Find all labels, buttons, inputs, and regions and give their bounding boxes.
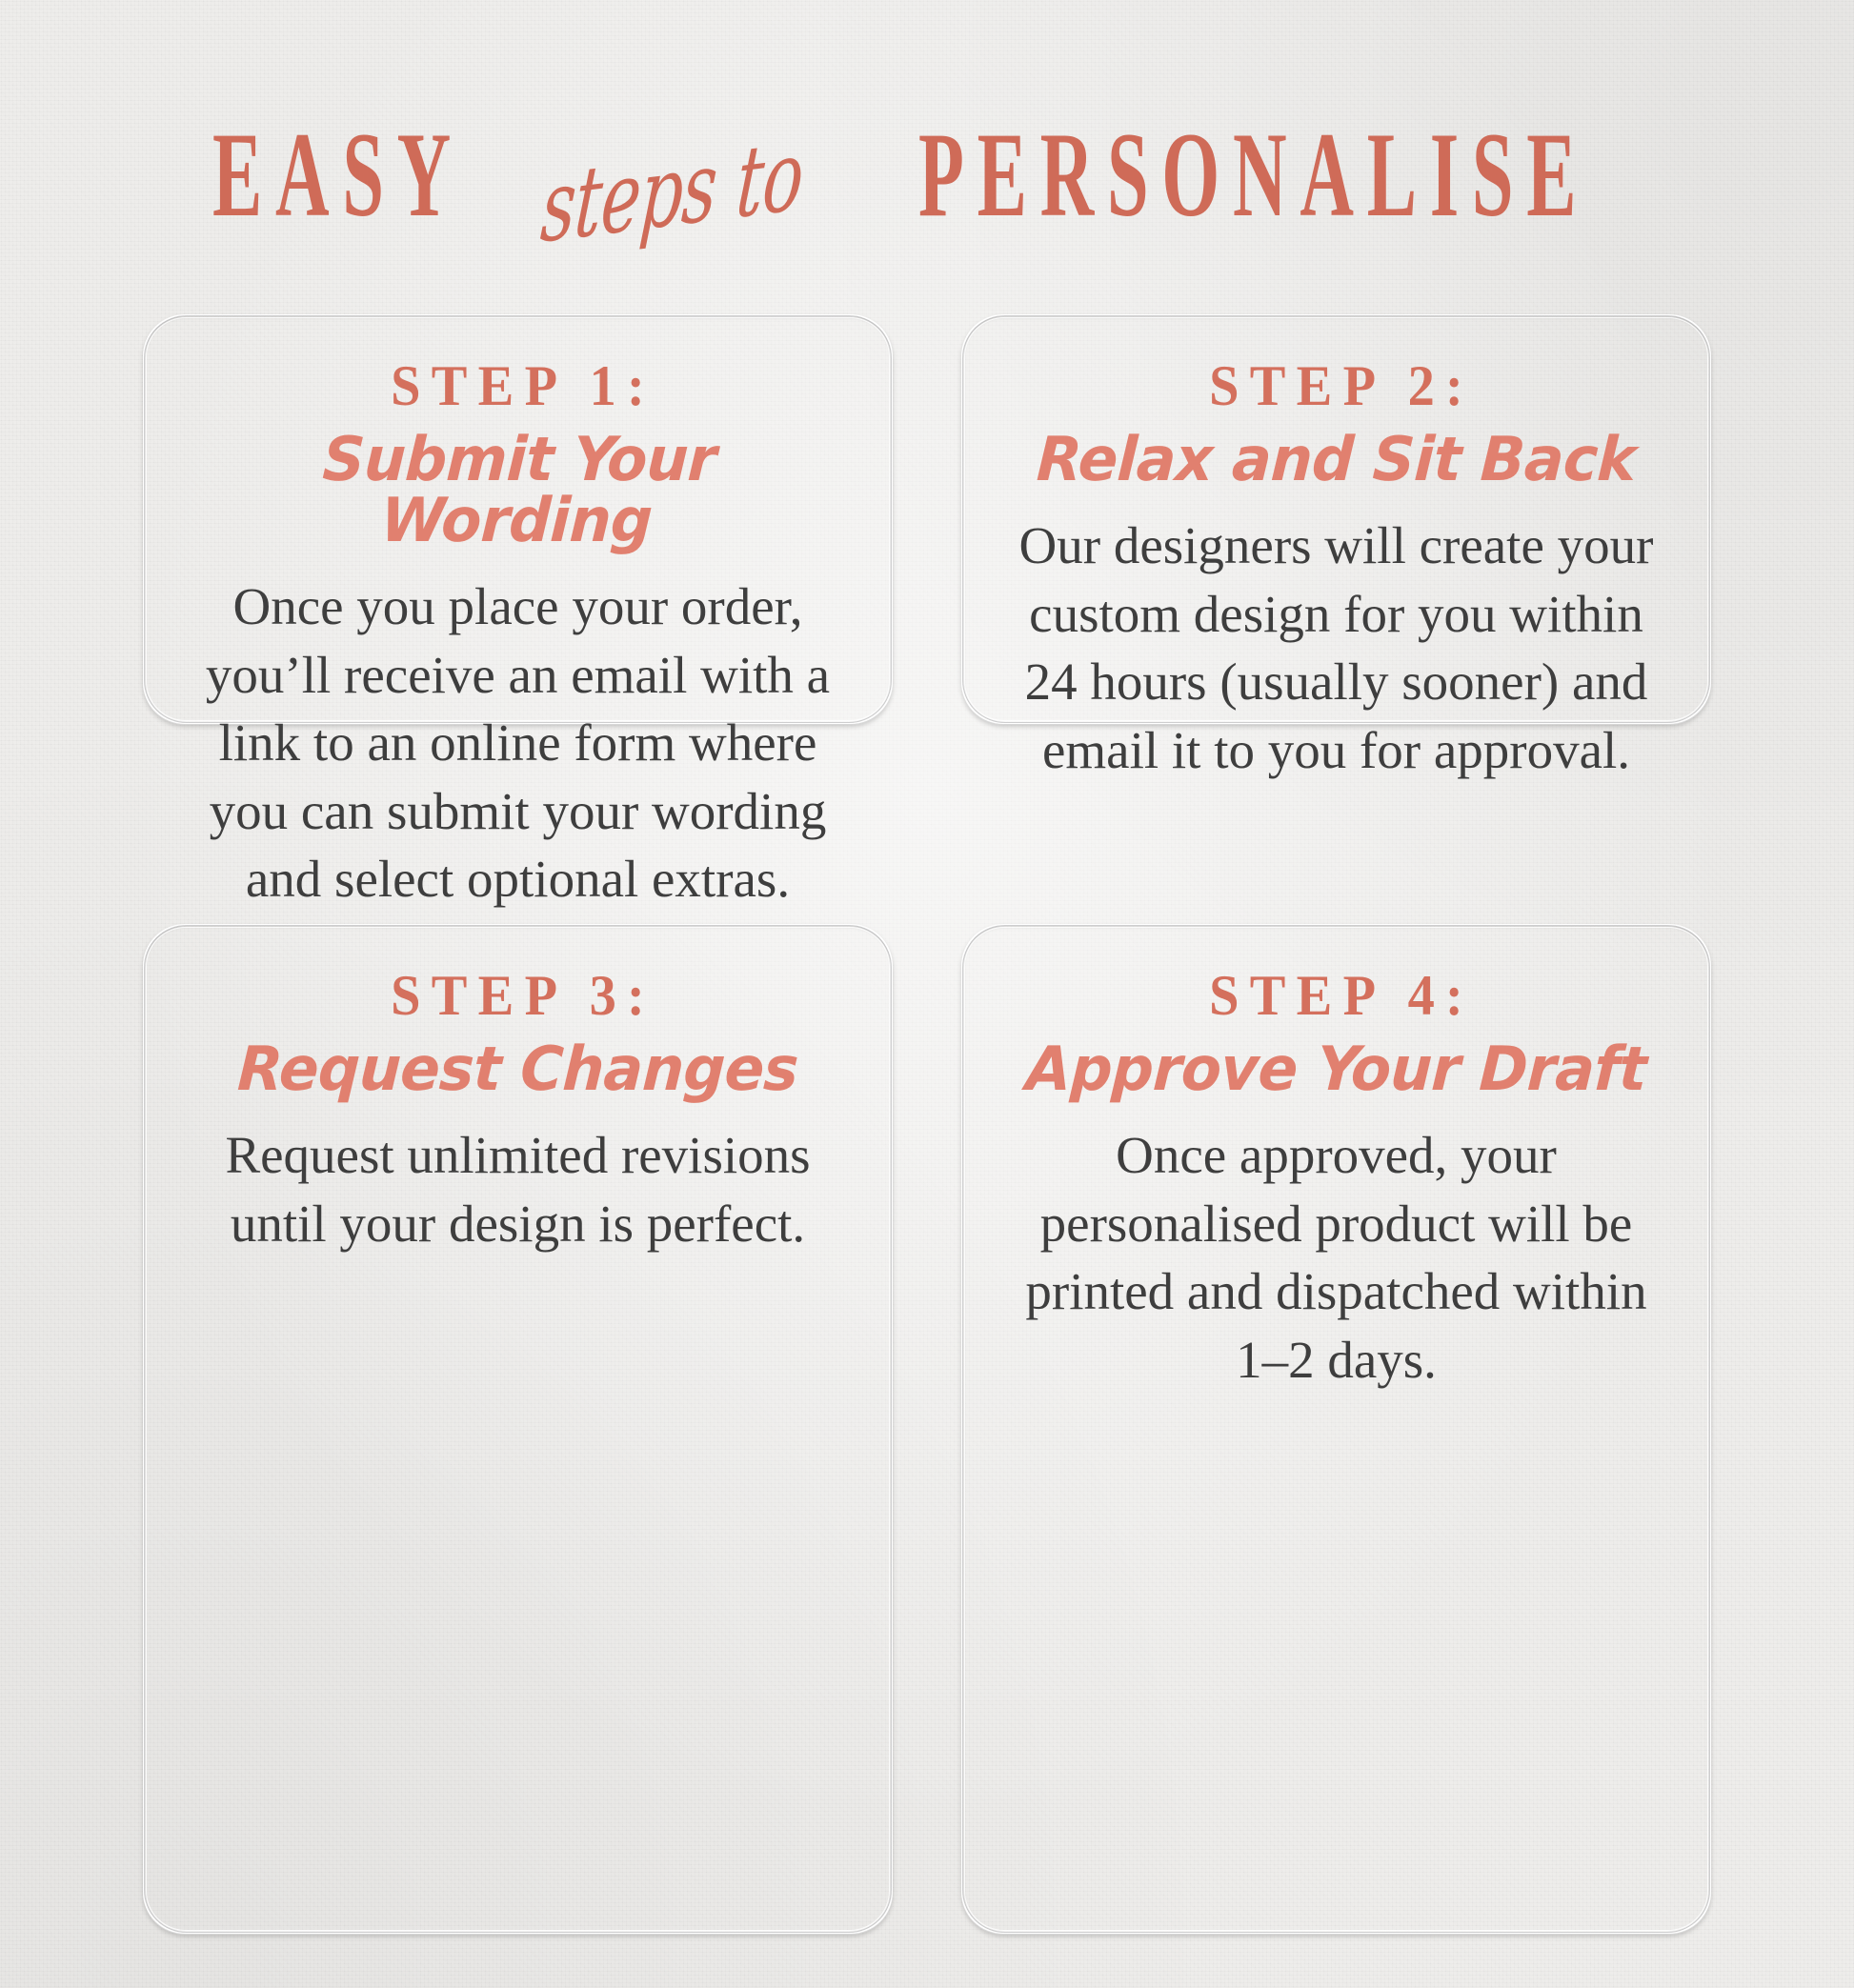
page-title-word-personalise: PERSONALISE	[918, 115, 1589, 236]
step-4-body: Once approved, your personalised product…	[996, 1121, 1677, 1394]
step-1-body: Once you place your order, you’ll receiv…	[177, 572, 858, 914]
step-card-4: STEP 4: Approve Your Draft Once approved…	[961, 924, 1711, 1934]
page-title-script-steps-to: steps to	[538, 127, 807, 257]
step-4-label: STEP 4:	[1016, 966, 1656, 1026]
step-2-body: Our designers will create your custom de…	[996, 512, 1677, 784]
step-1-label: STEP 1:	[197, 356, 837, 416]
step-2-label: STEP 2:	[1016, 356, 1656, 416]
step-3-label: STEP 3:	[197, 966, 837, 1026]
steps-to-personalise-graphic: EASYsteps toPERSONALISE STEP 1: Submit Y…	[0, 0, 1854, 1988]
step-1-title: Submit Your Wording	[188, 430, 848, 552]
page-title: EASYsteps toPERSONALISE	[0, 143, 1854, 236]
step-3-title: Request Changes	[190, 1039, 847, 1100]
step-card-1: STEP 1: Submit Your Wording Once you pla…	[143, 314, 893, 724]
page-title-word-easy: EASY	[212, 115, 464, 236]
step-card-2: STEP 2: Relax and Sit Back Our designers…	[961, 314, 1711, 724]
step-card-3: STEP 3: Request Changes Request unlimite…	[143, 924, 893, 1934]
step-3-body: Request unlimited revisions until your d…	[177, 1121, 858, 1257]
steps-grid: STEP 1: Submit Your Wording Once you pla…	[143, 314, 1711, 1334]
step-4-title: Approve Your Draft	[1008, 1039, 1665, 1100]
step-2-title: Relax and Sit Back	[1008, 430, 1665, 491]
